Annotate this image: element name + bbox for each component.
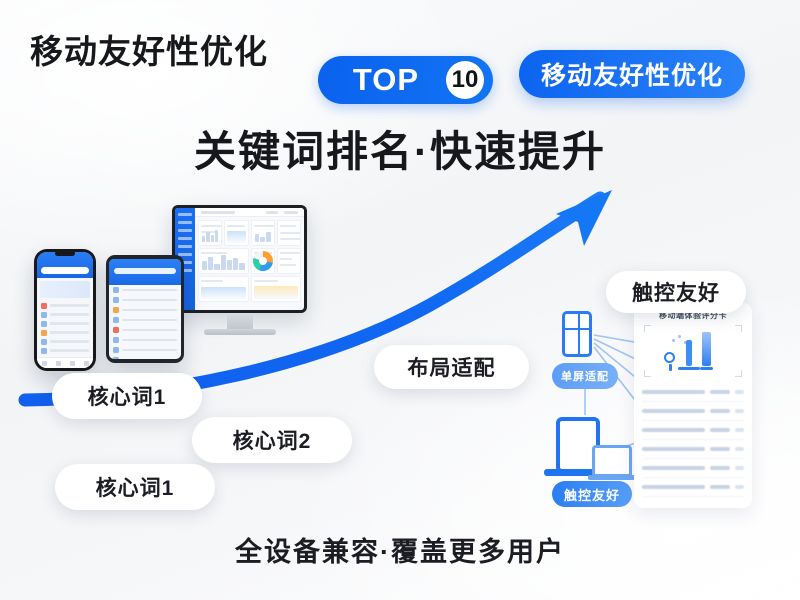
dashboard-topbar	[195, 208, 304, 217]
footer-caption: 全设备兼容·覆盖更多用户	[0, 530, 800, 569]
scorecard-rows	[642, 383, 744, 497]
dashboard-cards	[195, 217, 304, 310]
chip-keyword-1: 核心词1	[52, 373, 202, 419]
pill-touch-friendly: 触控友好	[552, 481, 632, 507]
pill-single-screen: 单屏适配	[552, 363, 618, 389]
table-row	[642, 421, 744, 440]
table-row	[642, 440, 744, 459]
desktop-monitor-icon	[172, 205, 307, 345]
chip-keyword-2: 核心词2	[192, 417, 352, 463]
page-kicker: 移动友好性优化	[30, 25, 268, 73]
top-badge-number: 10	[446, 61, 484, 99]
chip-touch-friendly: 触控友好	[606, 271, 746, 313]
magnifier-icon	[664, 352, 675, 363]
laptop-icon	[592, 445, 632, 477]
table-row	[642, 383, 744, 402]
table-row	[642, 402, 744, 421]
tag-pill-mobile-friendly: 移动友好性优化	[519, 50, 745, 98]
mobile-score-card: 移动端体验评分卡	[634, 303, 752, 508]
top-badge-word: TOP	[318, 62, 446, 98]
poster-canvas: 移动友好性优化 TOP 10 移动友好性优化 关键词排名·快速提升	[0, 0, 800, 600]
chip-layout-fit: 布局适配	[374, 345, 529, 389]
smartphone-device-icon	[34, 249, 96, 371]
donut-chart-icon	[253, 251, 273, 271]
phone-notch	[55, 251, 75, 256]
scorecard-chart	[644, 325, 742, 377]
laptop-base	[588, 475, 638, 480]
table-row	[642, 459, 744, 478]
small-phone-icon	[562, 311, 592, 357]
chip-keyword-3: 核心词1	[55, 464, 215, 510]
device-network-diagram: 单屏适配 触控友好	[548, 305, 643, 505]
top-rank-badge: TOP 10	[318, 56, 493, 104]
tablet-device-icon	[106, 255, 184, 363]
table-row	[642, 478, 744, 497]
